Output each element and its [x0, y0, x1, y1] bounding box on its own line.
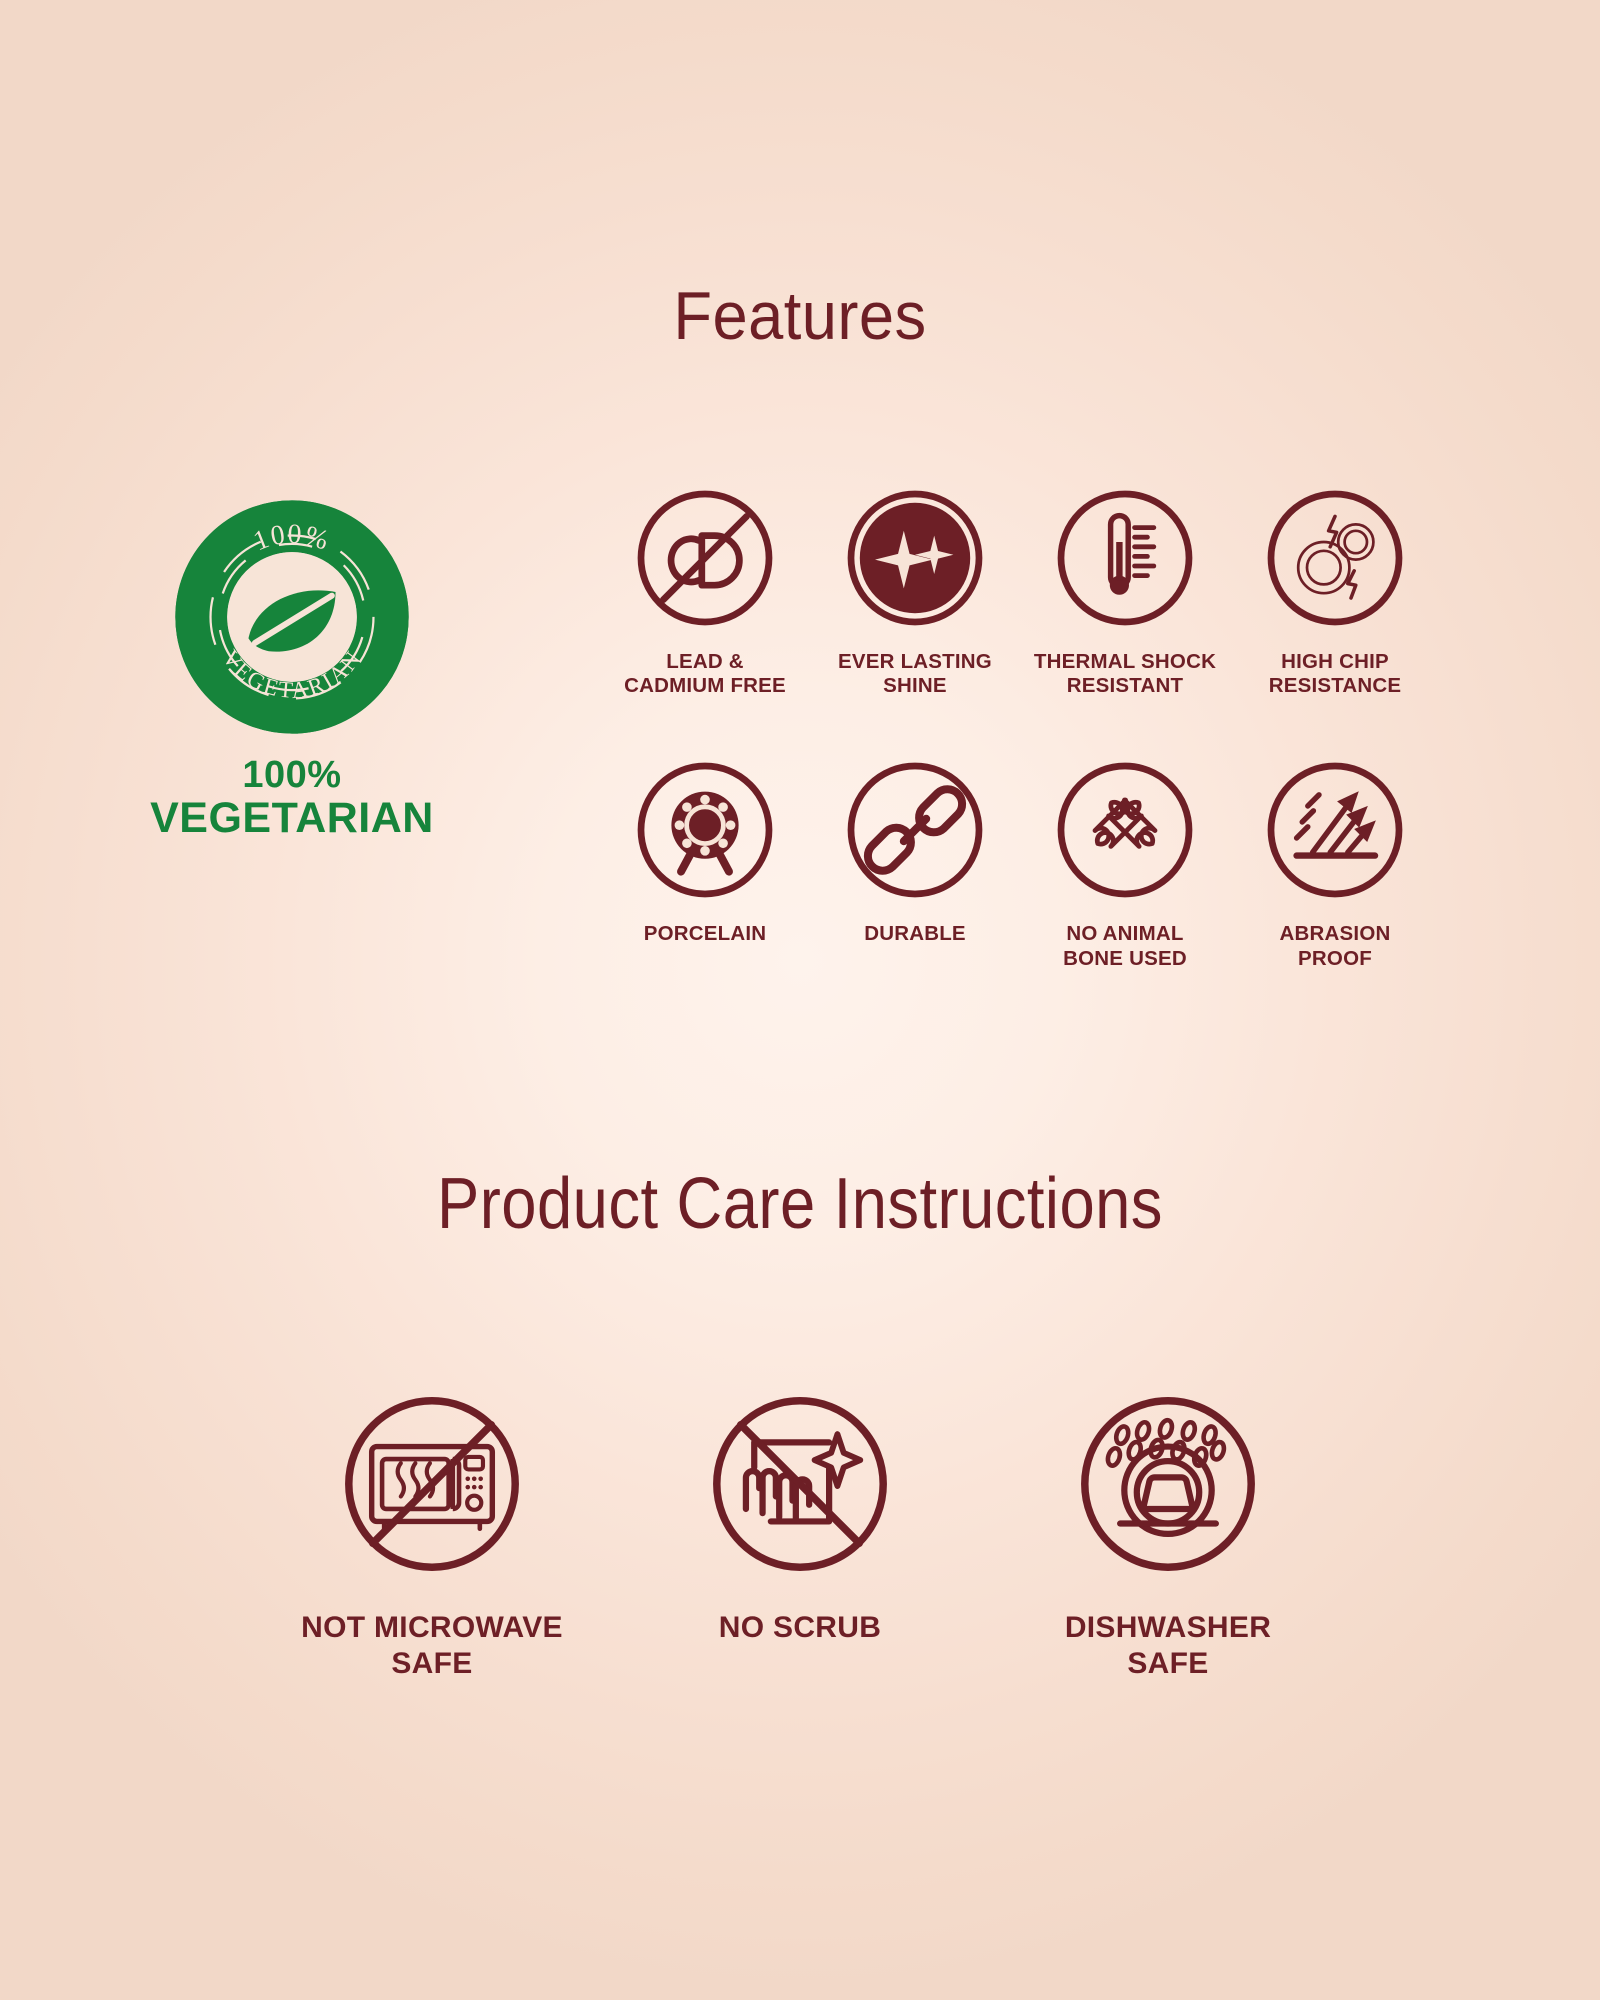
- feature-item-high-chip-resistance: HIGH CHIP RESISTANCE: [1230, 478, 1440, 698]
- infographic-page: Features 10: [0, 0, 1600, 2000]
- porcelain-plate-icon: [625, 750, 785, 910]
- care-grid: NOT MICROWAVE SAFE NO: [248, 1380, 1352, 1682]
- no-scrub-icon: [696, 1380, 904, 1588]
- no-lead-cadmium-icon: [625, 478, 785, 638]
- feature-label: PORCELAIN: [644, 922, 767, 946]
- feature-label: THERMAL SHOCK RESISTANT: [1034, 650, 1216, 698]
- vegetarian-caption: 100% VEGETARIAN: [122, 756, 462, 841]
- care-item-no-scrub: NO SCRUB: [616, 1380, 984, 1682]
- chain-link-icon: [835, 750, 995, 910]
- feature-item-lead-cadmium-free: LEAD & CADMIUM FREE: [600, 478, 810, 698]
- abrasion-arrows-icon: [1255, 750, 1415, 910]
- feature-item-no-animal-bone-used: NO ANIMAL BONE USED: [1020, 750, 1230, 970]
- feature-item-durable: DURABLE: [810, 750, 1020, 970]
- features-grid: LEAD & CADMIUM FREE EVER LASTING SHINE: [600, 478, 1440, 971]
- thermometer-icon: [1045, 478, 1205, 638]
- feature-label: DURABLE: [864, 922, 966, 946]
- sparkle-shine-icon: [835, 478, 995, 638]
- care-item-dishwasher-safe: DISHWASHER SAFE: [984, 1380, 1352, 1682]
- features-heading: Features: [56, 282, 1544, 350]
- vegetarian-caption-line2: VEGETARIAN: [122, 796, 462, 841]
- care-label: NOT MICROWAVE SAFE: [301, 1610, 563, 1682]
- care-label: NO SCRUB: [719, 1610, 881, 1646]
- feature-label: NO ANIMAL BONE USED: [1063, 922, 1187, 970]
- no-microwave-icon: [328, 1380, 536, 1588]
- feature-item-ever-lasting-shine: EVER LASTING SHINE: [810, 478, 1020, 698]
- vegetarian-badge-block: 100% VEGETARIAN 100% VEGETARIAN: [122, 492, 462, 841]
- dishwasher-safe-icon: [1064, 1380, 1272, 1588]
- feature-label: HIGH CHIP RESISTANCE: [1269, 650, 1402, 698]
- feature-item-abrasion-proof: ABRASION PROOF: [1230, 750, 1440, 970]
- chip-resistance-icon: [1255, 478, 1415, 638]
- crossed-bones-icon: [1045, 750, 1205, 910]
- vegetarian-caption-line1: 100%: [122, 756, 462, 796]
- feature-item-thermal-shock-resistant: THERMAL SHOCK RESISTANT: [1020, 478, 1230, 698]
- feature-label: EVER LASTING SHINE: [838, 650, 992, 698]
- care-heading: Product Care Instructions: [96, 1168, 1504, 1240]
- vegetarian-seal-icon: 100% VEGETARIAN: [127, 492, 457, 742]
- feature-label: LEAD & CADMIUM FREE: [624, 650, 786, 698]
- care-item-not-microwave-safe: NOT MICROWAVE SAFE: [248, 1380, 616, 1682]
- feature-item-porcelain: PORCELAIN: [600, 750, 810, 970]
- care-label: DISHWASHER SAFE: [1065, 1610, 1271, 1682]
- feature-label: ABRASION PROOF: [1280, 922, 1391, 970]
